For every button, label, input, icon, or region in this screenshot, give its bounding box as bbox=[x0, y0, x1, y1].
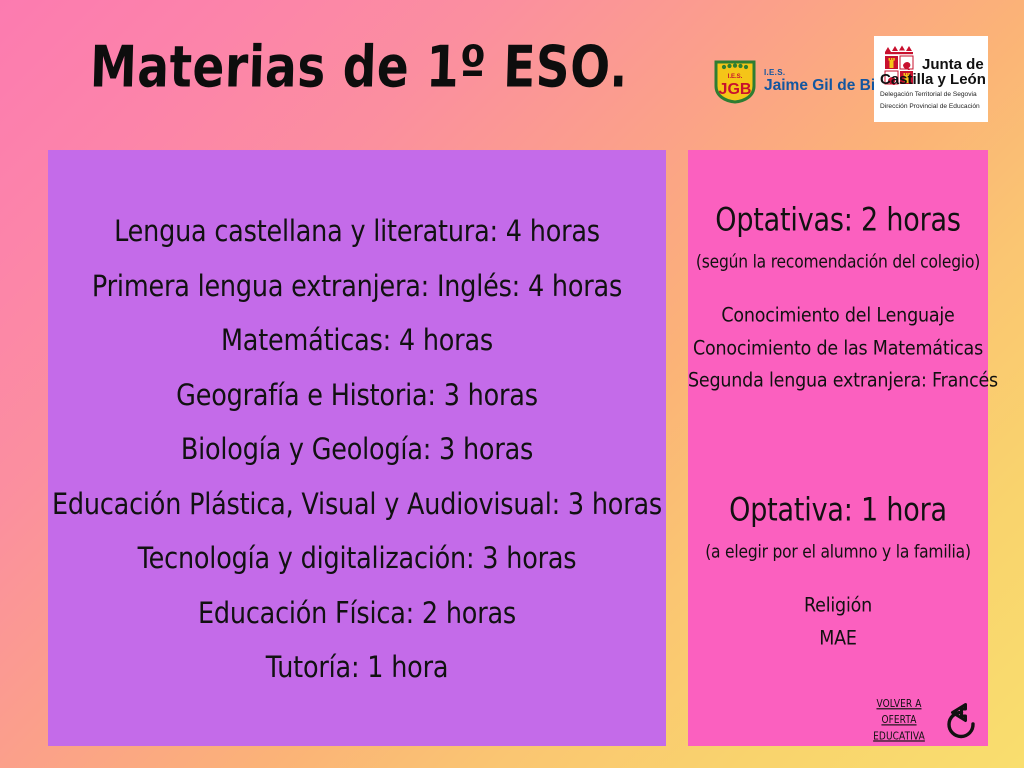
government-logo-sub2: Dirección Provincial de Educación bbox=[880, 103, 986, 112]
government-logo-sub1: Delegación Territorial de Segovia bbox=[880, 91, 986, 100]
optativa-option-list: Religión MAE bbox=[688, 590, 988, 655]
government-logo: Junta de Castilla y León Delegación Terr… bbox=[874, 36, 988, 122]
undo-circular-arrow-icon[interactable] bbox=[938, 699, 984, 745]
slide-canvas: Materias de 1º ESO. I.E.S. JGB I.E.S. Ja… bbox=[0, 0, 1024, 768]
back-link-label[interactable]: VOLVER A OFERTA EDUCATIVA bbox=[862, 698, 936, 746]
school-logo: I.E.S. JGB I.E.S. Jaime Gil de Biedma bbox=[712, 56, 862, 106]
subject-list: Lengua castellana y literatura: 4 horas … bbox=[48, 205, 666, 696]
svg-text:JGB: JGB bbox=[719, 81, 752, 98]
subject-item: Lengua castellana y literatura: 4 horas bbox=[48, 201, 666, 264]
electives-panel: Optativas: 2 horas (según la recomendaci… bbox=[688, 150, 988, 746]
optativa-block: Optativa: 1 hora (a elegir por el alumno… bbox=[688, 495, 988, 655]
government-logo-text: Junta de Castilla y León Delegación Terr… bbox=[922, 57, 986, 112]
optativa-option: Religión bbox=[688, 588, 988, 625]
subject-item: Tecnología y digitalización: 3 horas bbox=[48, 528, 666, 591]
optativa-note: (a elegir por el alumno y la familia) bbox=[688, 542, 988, 562]
subject-item: Matemáticas: 4 horas bbox=[48, 310, 666, 373]
optativa-option: MAE bbox=[688, 620, 988, 657]
back-to-offer-link[interactable]: VOLVER A OFERTA EDUCATIVA bbox=[862, 696, 988, 748]
optativas-heading: Optativas: 2 horas bbox=[688, 202, 988, 239]
core-subjects-panel: Lengua castellana y literatura: 4 horas … bbox=[48, 150, 666, 746]
optativas-note: (según la recomendación del colegio) bbox=[688, 252, 988, 272]
page-title: Materias de 1º ESO. bbox=[58, 34, 660, 101]
optativas-option: Conocimiento del Lenguaje bbox=[688, 298, 988, 335]
optativas-option: Segunda lengua extranjera: Francés bbox=[688, 363, 988, 400]
optativa-heading: Optativa: 1 hora bbox=[688, 492, 988, 529]
subject-item: Biología y Geología: 3 horas bbox=[48, 419, 666, 482]
optativas-option-list: Conocimiento del Lenguaje Conocimiento d… bbox=[688, 300, 988, 398]
subject-item: Tutoría: 1 hora bbox=[48, 637, 666, 700]
svg-text:I.E.S.: I.E.S. bbox=[728, 74, 743, 80]
slide-header: Materias de 1º ESO. I.E.S. JGB I.E.S. Ja… bbox=[0, 0, 1024, 150]
optativas-block: Optativas: 2 horas (según la recomendaci… bbox=[688, 205, 988, 398]
government-logo-line1: Junta de bbox=[922, 57, 986, 72]
government-logo-line2: Castilla y León bbox=[880, 72, 986, 88]
jgb-shield-icon: I.E.S. JGB bbox=[712, 58, 758, 104]
optativas-option: Conocimiento de las Matemáticas bbox=[688, 330, 988, 367]
